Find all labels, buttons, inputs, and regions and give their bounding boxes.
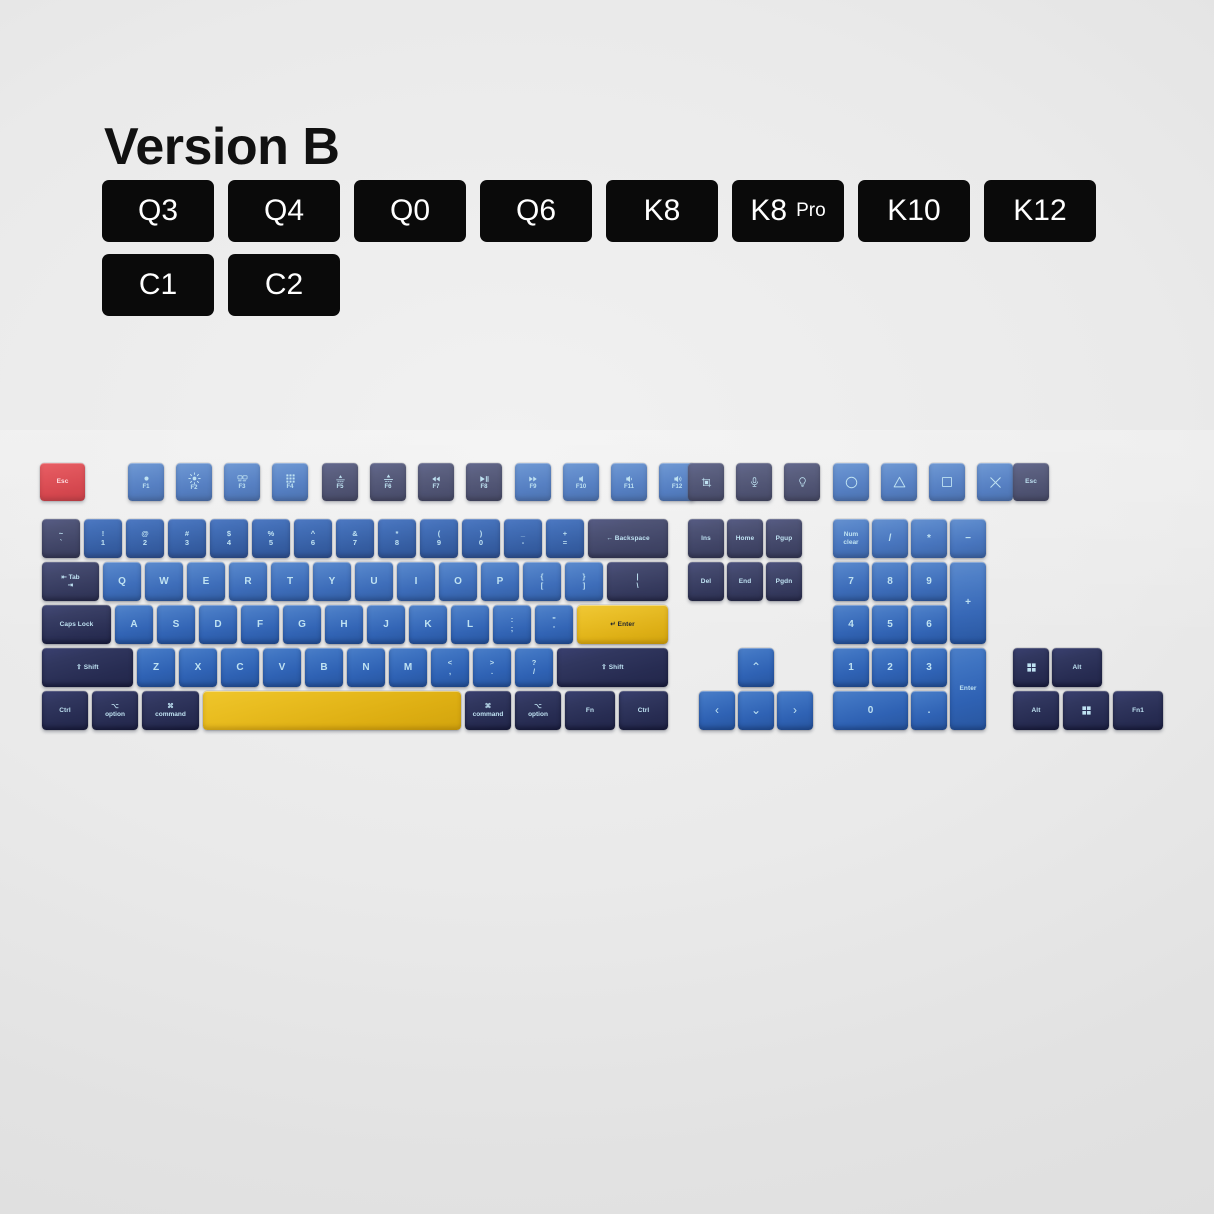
key-f2[interactable]: F2 bbox=[176, 463, 212, 501]
keycap-legend: $4 bbox=[210, 522, 248, 555]
legend-secondary: ; bbox=[511, 625, 514, 633]
keycap-legend: K bbox=[409, 605, 447, 644]
keycap-legend bbox=[929, 463, 965, 501]
legend-primary: ⌃ bbox=[751, 661, 761, 674]
keycap-legend: L bbox=[451, 605, 489, 644]
keycap-legend: S bbox=[157, 605, 195, 644]
legend-primary: Ctrl bbox=[59, 707, 71, 714]
keycap-legend: / bbox=[872, 519, 908, 558]
rewind-icon bbox=[430, 474, 442, 484]
legend-primary: Num bbox=[844, 531, 858, 538]
keycap-legend: F10 bbox=[563, 467, 599, 497]
keycap-legend bbox=[784, 463, 820, 501]
key-ctrl-right[interactable]: Ctrl bbox=[619, 691, 668, 730]
keycap-legend: F11 bbox=[611, 467, 647, 497]
volume-up-icon bbox=[671, 474, 684, 484]
key-x[interactable]: X bbox=[179, 648, 217, 687]
key-pageup[interactable]: Pgup bbox=[766, 519, 802, 558]
key-b[interactable]: B bbox=[305, 648, 343, 687]
keycap-legend: }] bbox=[565, 565, 603, 598]
keycap-legend: !1 bbox=[84, 522, 122, 555]
key-d[interactable]: D bbox=[199, 605, 237, 644]
keycap-legend: )0 bbox=[462, 522, 500, 555]
legend-secondary: option bbox=[105, 711, 125, 718]
keycap-legend: 9 bbox=[911, 562, 947, 601]
key-shift-right[interactable]: ⇧ Shift bbox=[557, 648, 668, 687]
key-minus[interactable]: _- bbox=[504, 519, 542, 558]
legend-primary: › bbox=[793, 704, 797, 717]
key-k[interactable]: K bbox=[409, 605, 447, 644]
key-microphone[interactable] bbox=[736, 463, 772, 501]
microphone-icon bbox=[749, 476, 760, 488]
key-f9[interactable]: F9 bbox=[515, 463, 551, 501]
key-c[interactable]: C bbox=[221, 648, 259, 687]
keycap-legend: F5 bbox=[322, 467, 358, 497]
fast-forward-icon bbox=[527, 474, 539, 484]
legend-primary: ⌥ bbox=[111, 703, 119, 710]
key-0[interactable]: )0 bbox=[462, 519, 500, 558]
key-g[interactable]: G bbox=[283, 605, 321, 644]
keycap-legend: ⌄ bbox=[738, 691, 774, 730]
legend-secondary: command bbox=[473, 711, 504, 718]
key-i[interactable]: I bbox=[397, 562, 435, 601]
legend-primary: End bbox=[739, 578, 752, 585]
key-lightbulb[interactable] bbox=[784, 463, 820, 501]
key-capslock[interactable]: Caps Lock bbox=[42, 605, 111, 644]
legend-primary: − bbox=[965, 533, 971, 544]
key-cross[interactable] bbox=[977, 463, 1013, 501]
legend-secondary: ' bbox=[553, 625, 555, 633]
key-8[interactable]: *8 bbox=[378, 519, 416, 558]
key-end[interactable]: End bbox=[727, 562, 763, 601]
keycap-legend: ⌥option bbox=[92, 691, 138, 730]
keycap-legend: F1 bbox=[128, 467, 164, 497]
legend-primary: ↵ Enter bbox=[610, 621, 635, 628]
keycap-legend: Ctrl bbox=[42, 691, 88, 730]
legend-primary: ⌘ bbox=[167, 703, 174, 710]
keycap-legend bbox=[1013, 648, 1049, 687]
key-insert[interactable]: Ins bbox=[688, 519, 724, 558]
key-l[interactable]: L bbox=[451, 605, 489, 644]
keycap-legend: "' bbox=[535, 608, 573, 641]
launchpad-icon bbox=[285, 473, 296, 484]
legend-primary: M bbox=[404, 662, 412, 673]
keycap-legend: += bbox=[546, 522, 584, 555]
key-p[interactable]: P bbox=[481, 562, 519, 601]
keycap-legend: ^6 bbox=[294, 522, 332, 555]
keycap-legend: @2 bbox=[126, 522, 164, 555]
legend-primary: Ctrl bbox=[638, 707, 650, 714]
key-6[interactable]: ^6 bbox=[294, 519, 332, 558]
keycap-legend bbox=[977, 463, 1013, 501]
key-numpad-divide[interactable]: / bbox=[872, 519, 908, 558]
keycap-legend: 4 bbox=[833, 605, 869, 644]
keycap-legend: F bbox=[241, 605, 279, 644]
key-numpad-8[interactable]: 8 bbox=[872, 562, 908, 601]
key-triangle[interactable] bbox=[881, 463, 917, 501]
legend-secondary: F9 bbox=[529, 484, 536, 491]
key-square[interactable] bbox=[929, 463, 965, 501]
legend-secondary: ` bbox=[60, 539, 63, 547]
triangle-icon bbox=[892, 475, 907, 490]
keycap-legend bbox=[881, 463, 917, 501]
key-z[interactable]: Z bbox=[137, 648, 175, 687]
legend-secondary: F5 bbox=[336, 484, 343, 491]
key-esc-red[interactable]: Esc bbox=[40, 463, 85, 501]
mission-control-icon bbox=[236, 473, 249, 484]
key-w[interactable]: W bbox=[145, 562, 183, 601]
legend-primary: ⌘ bbox=[485, 703, 492, 710]
keycap-legend: Pgup bbox=[766, 519, 802, 558]
legend-primary: E bbox=[203, 576, 210, 587]
legend-primary: 0 bbox=[868, 705, 874, 716]
legend-primary: R bbox=[244, 576, 251, 587]
legend-primary: Alt bbox=[1032, 707, 1041, 714]
keycap-legend: N bbox=[347, 648, 385, 687]
legend-primary: ⇤ Tab bbox=[61, 574, 79, 581]
key-n[interactable]: N bbox=[347, 648, 385, 687]
key-numpad-0[interactable]: 0 bbox=[833, 691, 908, 730]
key-5[interactable]: %5 bbox=[252, 519, 290, 558]
cross-icon bbox=[988, 475, 1003, 490]
key-numpad-2[interactable]: 2 bbox=[872, 648, 908, 687]
key-j[interactable]: J bbox=[367, 605, 405, 644]
legend-primary: P bbox=[497, 576, 504, 587]
key-backspace[interactable]: ← Backspace bbox=[588, 519, 668, 558]
key-f8[interactable]: F8 bbox=[466, 463, 502, 501]
keycap-legend: Alt bbox=[1013, 691, 1059, 730]
legend-primary: C bbox=[236, 662, 243, 673]
keycap-legend: Caps Lock bbox=[42, 605, 111, 644]
legend-primary: ‹ bbox=[715, 704, 719, 717]
legend-primary: W bbox=[159, 576, 168, 587]
key-shift-left[interactable]: ⇧ Shift bbox=[42, 648, 133, 687]
legend-primary: B bbox=[320, 662, 327, 673]
keycap-legend: ~` bbox=[42, 522, 80, 555]
key-home[interactable]: Home bbox=[727, 519, 763, 558]
key-numpad-3[interactable]: 3 bbox=[911, 648, 947, 687]
keycap-legend: (9 bbox=[420, 522, 458, 555]
keycap-legend: Esc bbox=[1013, 463, 1049, 501]
legend-secondary: 0 bbox=[479, 539, 483, 547]
legend-primary: Esc bbox=[1025, 478, 1037, 485]
keycap-legend bbox=[203, 691, 461, 730]
keycap-legend: F3 bbox=[224, 467, 260, 497]
key-option-left[interactable]: ⌥option bbox=[92, 691, 138, 730]
key-numpad-decimal[interactable]: . bbox=[911, 691, 947, 730]
key-equal[interactable]: += bbox=[546, 519, 584, 558]
key-3[interactable]: #3 bbox=[168, 519, 206, 558]
key-y[interactable]: Y bbox=[313, 562, 351, 601]
key-fn[interactable]: Fn bbox=[565, 691, 615, 730]
keycap-legend: V bbox=[263, 648, 301, 687]
key-esc-navy[interactable]: Esc bbox=[1013, 463, 1049, 501]
key-quote[interactable]: "' bbox=[535, 605, 573, 644]
key-backslash[interactable]: |\ bbox=[607, 562, 668, 601]
keycap-legend: 6 bbox=[911, 605, 947, 644]
key-numpad-7[interactable]: 7 bbox=[833, 562, 869, 601]
legend-primary: Z bbox=[153, 662, 159, 673]
key-f3[interactable]: F3 bbox=[224, 463, 260, 501]
keycap-legend: Home bbox=[727, 519, 763, 558]
keycap-legend: Numclear bbox=[833, 519, 869, 558]
key-numpad-multiply[interactable]: * bbox=[911, 519, 947, 558]
key-9[interactable]: (9 bbox=[420, 519, 458, 558]
legend-primary: Del bbox=[701, 578, 711, 585]
key-r[interactable]: R bbox=[229, 562, 267, 601]
keycap-legend: F7 bbox=[418, 467, 454, 497]
legend-primary: T bbox=[287, 576, 293, 587]
keycap-legend: Esc bbox=[40, 463, 85, 501]
keycap-legend: #3 bbox=[168, 522, 206, 555]
legend-primary: Fn bbox=[586, 707, 594, 714]
legend-secondary: 1 bbox=[101, 539, 105, 547]
keycap-legend: T bbox=[271, 562, 309, 601]
keycap-legend: ⌃ bbox=[738, 648, 774, 687]
legend-secondary: . bbox=[491, 668, 493, 676]
legend-primary: H bbox=[340, 619, 347, 630]
key-arrow-right[interactable]: › bbox=[777, 691, 813, 730]
key-tilde[interactable]: ~` bbox=[42, 519, 80, 558]
keycap-legend: ⌥option bbox=[515, 691, 561, 730]
key-ctrl-left[interactable]: Ctrl bbox=[42, 691, 88, 730]
keycap-legend: Pgdn bbox=[766, 562, 802, 601]
key-f11[interactable]: F11 bbox=[611, 463, 647, 501]
key-a[interactable]: A bbox=[115, 605, 153, 644]
keycap-legend: <, bbox=[431, 651, 469, 684]
key-command-right[interactable]: ⌘command bbox=[465, 691, 511, 730]
key-circle[interactable] bbox=[833, 463, 869, 501]
key-t[interactable]: T bbox=[271, 562, 309, 601]
key-command-left[interactable]: ⌘command bbox=[142, 691, 199, 730]
keycap-legend: C bbox=[221, 648, 259, 687]
keycap-legend: {[ bbox=[523, 565, 561, 598]
keycap-legend: B bbox=[305, 648, 343, 687]
key-comma[interactable]: <, bbox=[431, 648, 469, 687]
keycap-legend: Ctrl bbox=[619, 691, 668, 730]
key-numclear[interactable]: Numclear bbox=[833, 519, 869, 558]
key-delete[interactable]: Del bbox=[688, 562, 724, 601]
keycap-legend: F4 bbox=[272, 467, 308, 497]
key-arrow-up[interactable]: ⌃ bbox=[738, 648, 774, 687]
keycap-legend: %5 bbox=[252, 522, 290, 555]
key-numpad-minus[interactable]: − bbox=[950, 519, 986, 558]
legend-primary: / bbox=[889, 533, 892, 544]
legend-secondary: 9 bbox=[437, 539, 441, 547]
legend-primary: U bbox=[370, 576, 377, 587]
keycap-legend: * bbox=[911, 519, 947, 558]
key-q[interactable]: Q bbox=[103, 562, 141, 601]
play-pause-icon bbox=[478, 474, 490, 484]
keycap-legend: M bbox=[389, 648, 427, 687]
key-2[interactable]: @2 bbox=[126, 519, 164, 558]
keycap-legend: 1 bbox=[833, 648, 869, 687]
legend-primary: 9 bbox=[926, 576, 932, 587]
keycap-legend: ?/ bbox=[515, 651, 553, 684]
key-numpad-6[interactable]: 6 bbox=[911, 605, 947, 644]
key-arrow-left[interactable]: ‹ bbox=[699, 691, 735, 730]
square-icon bbox=[940, 475, 954, 489]
legend-secondary: F4 bbox=[286, 484, 293, 491]
key-u[interactable]: U bbox=[355, 562, 393, 601]
keycap-legend: 3 bbox=[911, 648, 947, 687]
key-e[interactable]: E bbox=[187, 562, 225, 601]
windows-icon bbox=[1081, 705, 1092, 716]
keycap-legend: . bbox=[911, 691, 947, 730]
legend-secondary: 5 bbox=[269, 539, 273, 547]
keycap-legend: Alt bbox=[1052, 648, 1102, 687]
key-f7[interactable]: F7 bbox=[418, 463, 454, 501]
key-slash[interactable]: ?/ bbox=[515, 648, 553, 687]
key-h[interactable]: H bbox=[325, 605, 363, 644]
legend-primary: I bbox=[415, 576, 418, 587]
key-windows-bottom[interactable] bbox=[1063, 691, 1109, 730]
key-tab[interactable]: ⇤ Tab⇥ bbox=[42, 562, 99, 601]
key-enter[interactable]: ↵ Enter bbox=[577, 605, 668, 644]
key-7[interactable]: &7 bbox=[336, 519, 374, 558]
keycap-legend: >. bbox=[473, 651, 511, 684]
legend-primary: Pgup bbox=[776, 535, 793, 542]
keycap-legend: P bbox=[481, 562, 519, 601]
keycap-legend: H bbox=[325, 605, 363, 644]
legend-secondary: [ bbox=[541, 582, 544, 590]
keycap-legend: Z bbox=[137, 648, 175, 687]
key-v[interactable]: V bbox=[263, 648, 301, 687]
key-numpad-plus[interactable]: + bbox=[950, 562, 986, 644]
legend-secondary: 4 bbox=[227, 539, 231, 547]
legend-primary: A bbox=[130, 619, 137, 630]
keycap-legend: &7 bbox=[336, 522, 374, 555]
keycap-legend: F2 bbox=[176, 467, 212, 497]
legend-primary: 7 bbox=[848, 576, 854, 587]
key-m[interactable]: M bbox=[389, 648, 427, 687]
keycap-legend: |\ bbox=[607, 565, 668, 598]
key-numpad-4[interactable]: 4 bbox=[833, 605, 869, 644]
circle-icon bbox=[844, 475, 859, 490]
keycap-legend: 7 bbox=[833, 562, 869, 601]
keycap-legend: ⇧ Shift bbox=[557, 648, 668, 687]
key-fn1[interactable]: Fn1 bbox=[1113, 691, 1163, 730]
key-f1[interactable]: F1 bbox=[128, 463, 164, 501]
key-numpad-enter[interactable]: Enter bbox=[950, 648, 986, 730]
legend-secondary: clear bbox=[843, 539, 858, 546]
legend-primary: J bbox=[383, 619, 389, 630]
key-windows-top[interactable] bbox=[1013, 648, 1049, 687]
volume-down-icon bbox=[623, 474, 635, 484]
keycap-legend bbox=[1063, 691, 1109, 730]
legend-primary: Caps Lock bbox=[60, 621, 94, 628]
key-bracket-left[interactable]: {[ bbox=[523, 562, 561, 601]
key-screenshot[interactable] bbox=[688, 463, 724, 501]
key-f5[interactable]: F5 bbox=[322, 463, 358, 501]
keycap-legend: Del bbox=[688, 562, 724, 601]
legend-primary: K bbox=[424, 619, 431, 630]
keycap-legend bbox=[688, 463, 724, 501]
legend-secondary: F11 bbox=[624, 484, 634, 491]
screenshot-icon bbox=[701, 477, 712, 488]
key-period[interactable]: >. bbox=[473, 648, 511, 687]
key-alt-bottom[interactable]: Alt bbox=[1013, 691, 1059, 730]
legend-primary: G bbox=[298, 619, 306, 630]
legend-primary: 6 bbox=[926, 619, 932, 630]
legend-primary: Alt bbox=[1073, 664, 1082, 671]
legend-primary: Pgdn bbox=[776, 578, 793, 585]
key-f10[interactable]: F10 bbox=[563, 463, 599, 501]
keycap-legend: A bbox=[115, 605, 153, 644]
legend-secondary: = bbox=[563, 539, 567, 547]
legend-secondary: 7 bbox=[353, 539, 357, 547]
legend-primary: Q bbox=[118, 576, 126, 587]
legend-primary: Ins bbox=[701, 535, 711, 542]
legend-primary: Esc bbox=[57, 478, 69, 485]
keycap-legend: Q bbox=[103, 562, 141, 601]
keycap-legend: W bbox=[145, 562, 183, 601]
legend-secondary: F1 bbox=[142, 484, 149, 491]
keycap-legend: O bbox=[439, 562, 477, 601]
keycap-legend: X bbox=[179, 648, 217, 687]
legend-primary: Enter bbox=[959, 685, 976, 692]
keycap-legend: I bbox=[397, 562, 435, 601]
key-arrow-down[interactable]: ⌄ bbox=[738, 691, 774, 730]
legend-secondary: 8 bbox=[395, 539, 399, 547]
keycap-legend bbox=[736, 463, 772, 501]
keycap-legend: F8 bbox=[466, 467, 502, 497]
key-s[interactable]: S bbox=[157, 605, 195, 644]
legend-primary: 8 bbox=[887, 576, 893, 587]
key-numpad-9[interactable]: 9 bbox=[911, 562, 947, 601]
legend-primary: V bbox=[279, 662, 286, 673]
key-f6[interactable]: F6 bbox=[370, 463, 406, 501]
key-option-right[interactable]: ⌥option bbox=[515, 691, 561, 730]
keycap-legend: U bbox=[355, 562, 393, 601]
legend-secondary: / bbox=[533, 668, 535, 676]
keycap-legend: ↵ Enter bbox=[577, 605, 668, 644]
keycap-legend: F9 bbox=[515, 467, 551, 497]
keycap-legend: ⇧ Shift bbox=[42, 648, 133, 687]
keycap-layout-diagram: EscF1F2F3F4F5F6F7F8F9F10F11F12Esc~`!1@2#… bbox=[0, 0, 1214, 1214]
key-space[interactable] bbox=[203, 691, 461, 730]
key-bracket-right[interactable]: }] bbox=[565, 562, 603, 601]
brightness-down-icon bbox=[141, 473, 152, 484]
key-numpad-5[interactable]: 5 bbox=[872, 605, 908, 644]
legend-secondary: F12 bbox=[672, 484, 682, 491]
key-f4[interactable]: F4 bbox=[272, 463, 308, 501]
key-semicolon[interactable]: :; bbox=[493, 605, 531, 644]
keycap-legend: D bbox=[199, 605, 237, 644]
key-alt-top[interactable]: Alt bbox=[1052, 648, 1102, 687]
keycap-legend: Y bbox=[313, 562, 351, 601]
key-numpad-1[interactable]: 1 bbox=[833, 648, 869, 687]
keycap-legend: :; bbox=[493, 608, 531, 641]
legend-secondary: F2 bbox=[190, 485, 197, 492]
keycap-legend: *8 bbox=[378, 522, 416, 555]
windows-icon bbox=[1026, 662, 1037, 673]
keycap-legend: G bbox=[283, 605, 321, 644]
lightbulb-icon bbox=[797, 476, 808, 488]
key-f[interactable]: F bbox=[241, 605, 279, 644]
key-o[interactable]: O bbox=[439, 562, 477, 601]
legend-primary: 2 bbox=[887, 662, 893, 673]
key-pagedown[interactable]: Pgdn bbox=[766, 562, 802, 601]
legend-primary: N bbox=[362, 662, 369, 673]
key-4[interactable]: $4 bbox=[210, 519, 248, 558]
legend-primary: . bbox=[928, 705, 931, 716]
key-1[interactable]: !1 bbox=[84, 519, 122, 558]
legend-primary: Home bbox=[736, 535, 754, 542]
legend-primary: 5 bbox=[887, 619, 893, 630]
legend-secondary: \ bbox=[636, 582, 638, 590]
legend-secondary: - bbox=[522, 539, 525, 547]
